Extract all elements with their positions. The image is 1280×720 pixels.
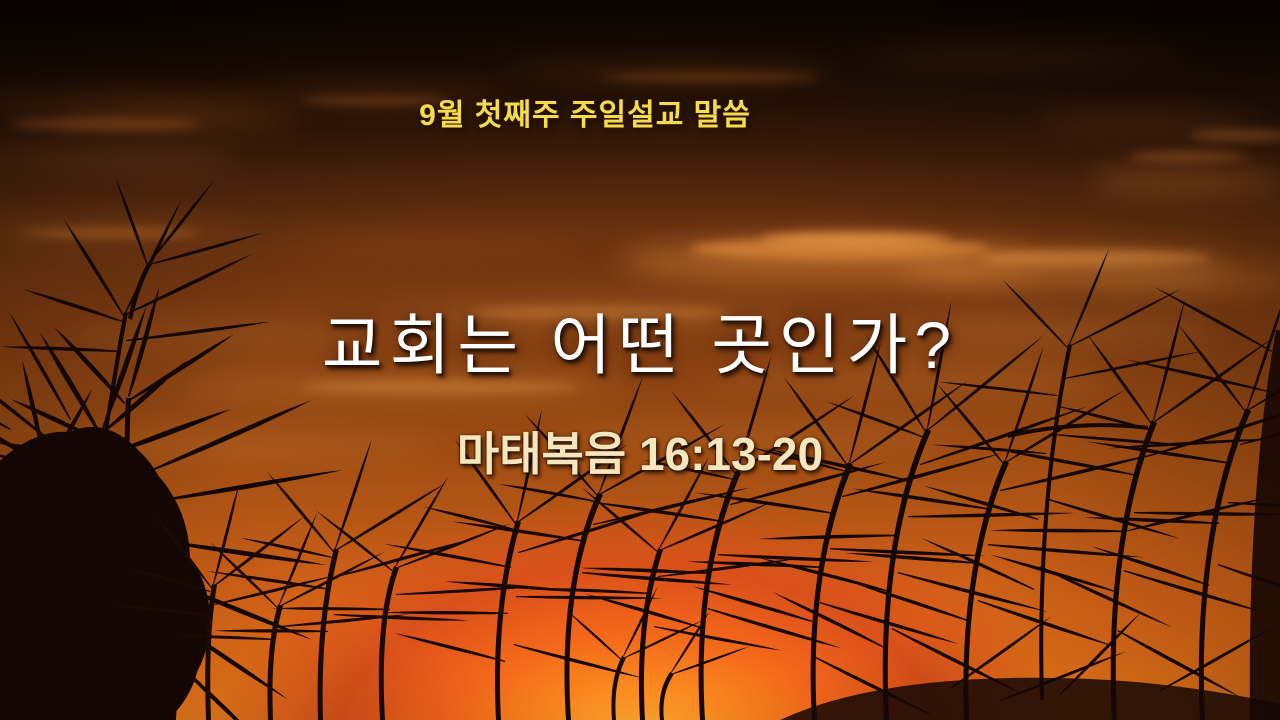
sermon-title-slide: 9월 첫째주 주일설교 말씀 교회는 어떤 곳인가? 마태복음 16:13-20 — [0, 0, 1280, 720]
sermon-subtitle: 9월 첫째주 주일설교 말씀 — [0, 90, 1280, 134]
scripture-reference: 마태복음 16:13-20 — [0, 418, 1280, 484]
sermon-title: 교회는 어떤 곳인가? — [0, 292, 1280, 388]
